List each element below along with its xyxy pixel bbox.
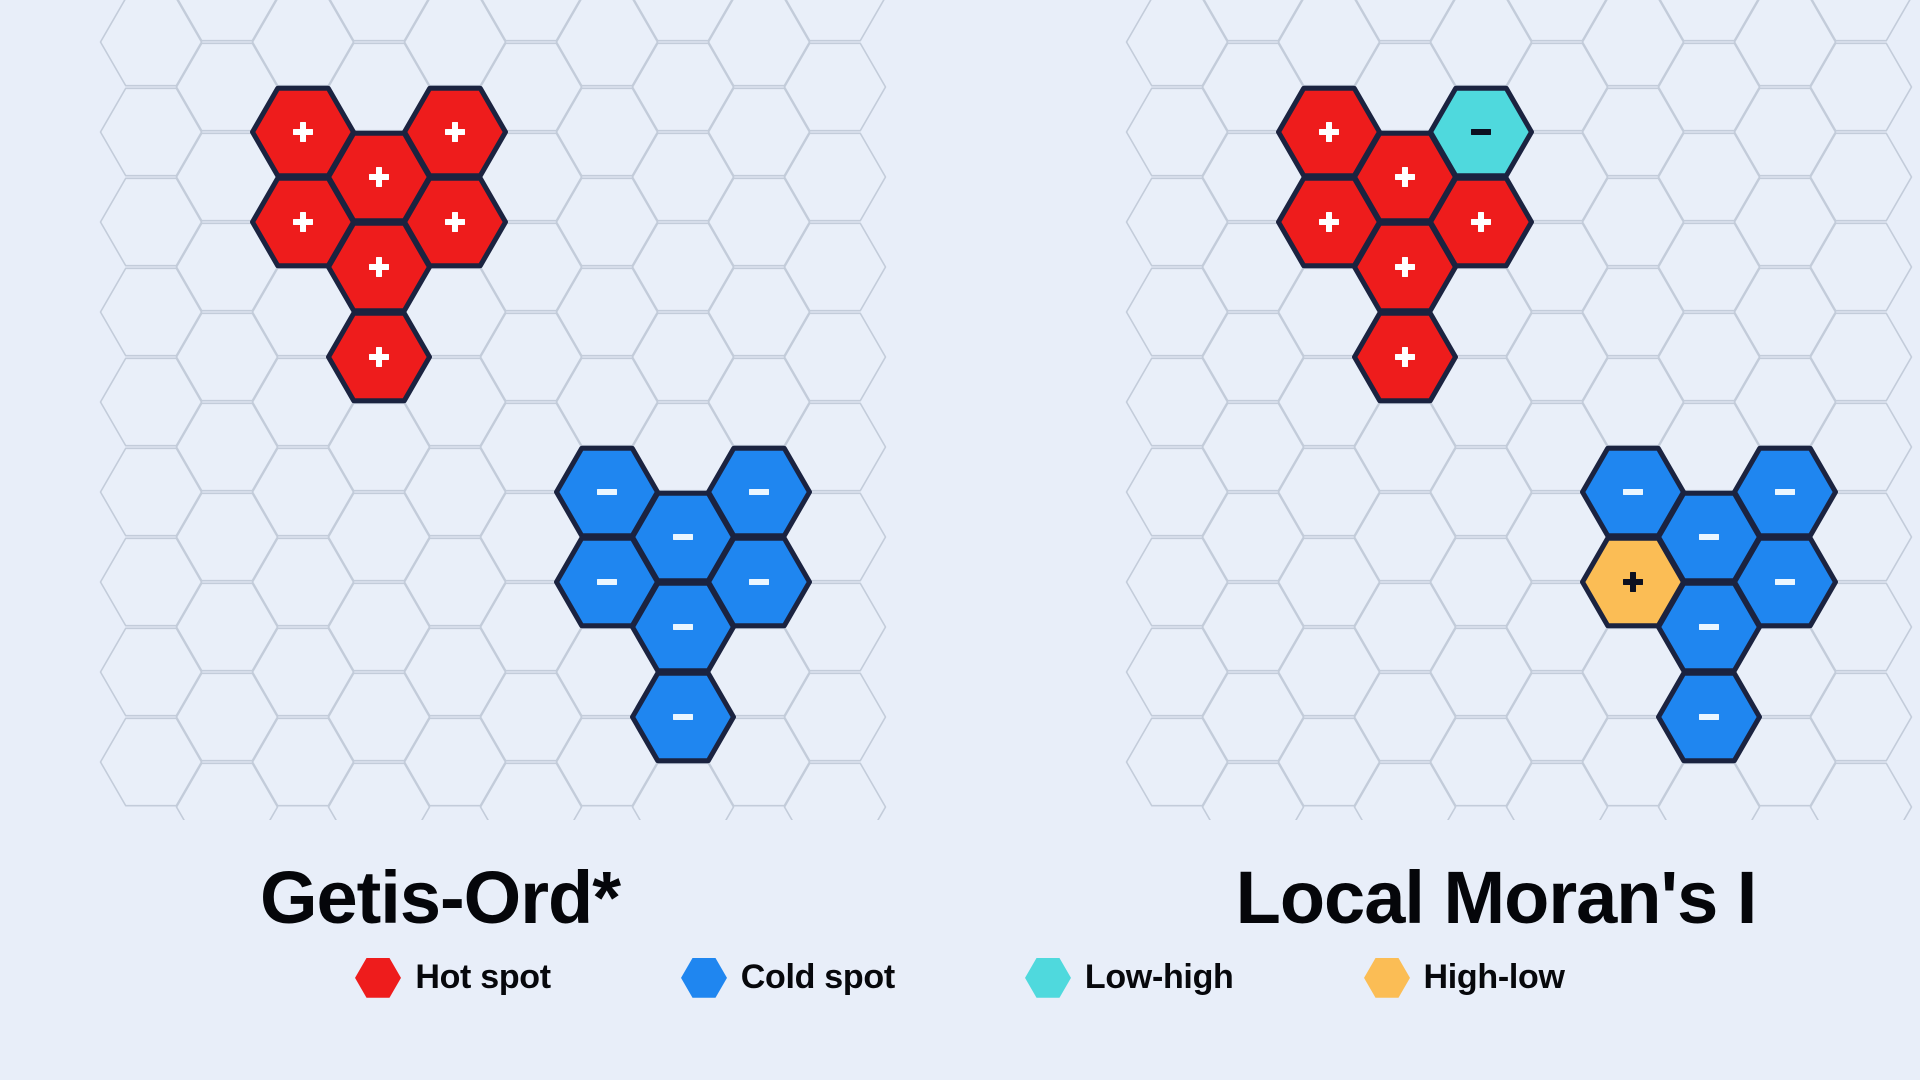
minus-icon xyxy=(749,579,769,585)
sign-bar-horizontal xyxy=(1699,534,1719,540)
legend-label: Cold spot xyxy=(741,958,895,997)
sign-bar-horizontal xyxy=(1623,489,1643,495)
minus-icon xyxy=(1699,624,1719,630)
legend-item-cold-spot[interactable]: Cold spot xyxy=(681,958,895,998)
minus-icon xyxy=(749,489,769,495)
minus-icon xyxy=(1775,579,1795,585)
sign-bar-horizontal xyxy=(749,579,769,585)
minus-icon xyxy=(673,714,693,720)
legend-item-low-high[interactable]: Low-high xyxy=(1025,958,1234,998)
sign-bar-horizontal xyxy=(673,624,693,630)
sign-bar-horizontal xyxy=(1775,489,1795,495)
minus-icon xyxy=(597,489,617,495)
sign-bar-vertical xyxy=(300,212,306,232)
sign-bar-horizontal xyxy=(597,489,617,495)
minus-icon xyxy=(1775,489,1795,495)
sign-bar-horizontal xyxy=(1699,714,1719,720)
sign-bar-horizontal xyxy=(1775,579,1795,585)
sign-bar-vertical xyxy=(1326,122,1332,142)
sign-bar-vertical xyxy=(376,167,382,187)
minus-icon xyxy=(1623,489,1643,495)
sign-bar-horizontal xyxy=(1471,129,1491,135)
legend-swatch-shape xyxy=(355,958,401,998)
sign-bar-horizontal xyxy=(749,489,769,495)
legend-label: Low-high xyxy=(1085,958,1234,997)
sign-bar-horizontal xyxy=(1699,624,1719,630)
legend-swatch-shape xyxy=(1364,958,1410,998)
legend-label: High-low xyxy=(1424,958,1565,997)
panel-title-local-morans-i: Local Moran's I xyxy=(1096,855,1896,940)
minus-icon xyxy=(1699,534,1719,540)
sign-bar-vertical xyxy=(376,257,382,277)
sign-bar-vertical xyxy=(1402,167,1408,187)
legend-item-hot-spot[interactable]: Hot spot xyxy=(355,958,550,998)
legend: Hot spotCold spotLow-highHigh-low xyxy=(0,958,1920,998)
sign-bar-vertical xyxy=(1630,572,1636,592)
panel-title-getis-ord: Getis-Ord* xyxy=(40,855,840,940)
minus-icon xyxy=(673,534,693,540)
legend-swatch-shape xyxy=(681,958,727,998)
minus-icon xyxy=(1471,129,1491,135)
sign-bar-vertical xyxy=(1478,212,1484,232)
legend-swatch-shape xyxy=(1025,958,1071,998)
hexagon-icon xyxy=(355,958,401,998)
sign-bar-vertical xyxy=(1326,212,1332,232)
hexagon-icon xyxy=(681,958,727,998)
minus-icon xyxy=(1699,714,1719,720)
sign-bar-vertical xyxy=(1402,257,1408,277)
sign-bar-horizontal xyxy=(673,534,693,540)
hex-map-getis-ord xyxy=(0,0,960,820)
sign-bar-vertical xyxy=(300,122,306,142)
sign-bar-vertical xyxy=(1402,347,1408,367)
sign-bar-horizontal xyxy=(673,714,693,720)
sign-bar-horizontal xyxy=(597,579,617,585)
diagram-canvas: Getis-Ord*Local Moran's IHot spotCold sp… xyxy=(0,0,1920,1080)
minus-icon xyxy=(673,624,693,630)
hex-map-local-morans-i xyxy=(960,0,1920,820)
legend-label: Hot spot xyxy=(415,958,550,997)
hexagon-icon xyxy=(1364,958,1410,998)
minus-icon xyxy=(597,579,617,585)
sign-bar-vertical xyxy=(452,122,458,142)
legend-item-high-low[interactable]: High-low xyxy=(1364,958,1565,998)
sign-bar-vertical xyxy=(376,347,382,367)
sign-bar-vertical xyxy=(452,212,458,232)
hexagon-icon xyxy=(1025,958,1071,998)
